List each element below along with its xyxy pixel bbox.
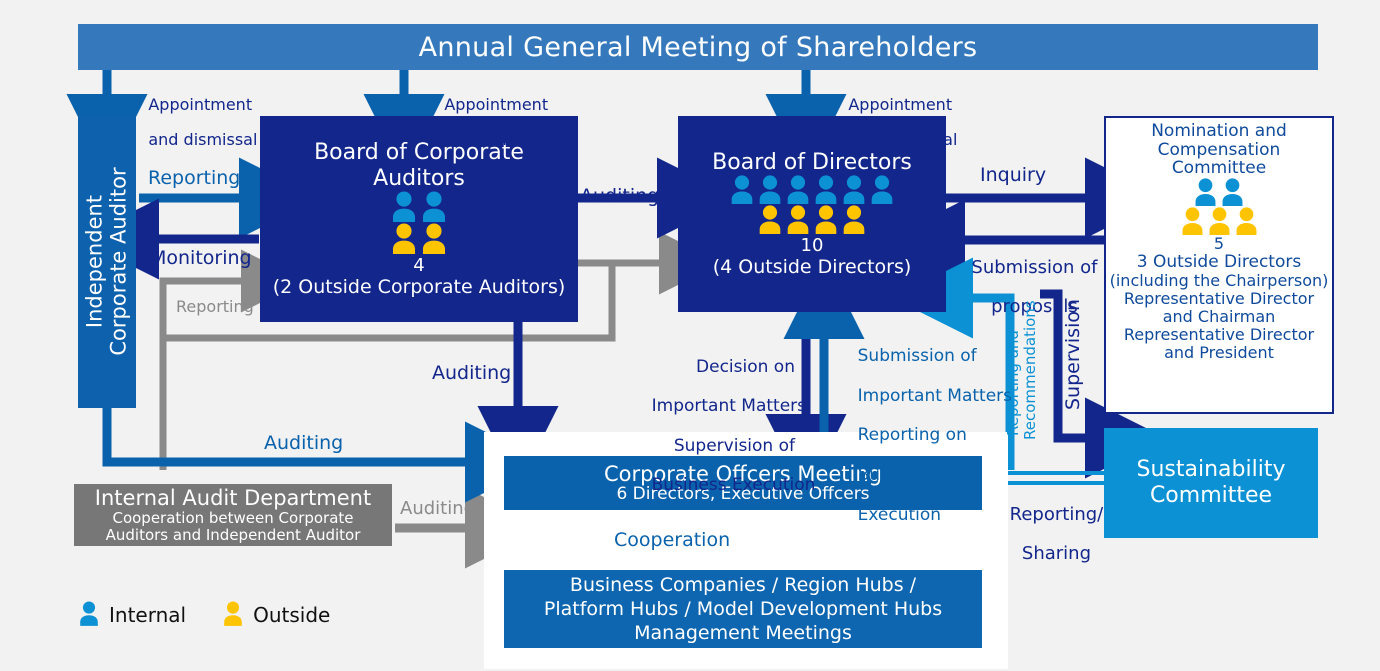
person-icon [1220,178,1245,206]
node-sustainability-committee: Sustainability Committee [1104,428,1318,538]
person-icon [757,205,783,234]
iad-sub: Cooperation between Corporate Auditors a… [106,510,361,543]
person-icon [390,223,418,254]
label-reporting-and-recommendations-1: Reporting and [1004,330,1022,436]
person-icon [1193,178,1218,206]
label-reporting-sharing: Reporting/ Sharing [986,485,1104,584]
legend-outside-label: Outside [253,603,330,627]
label-cooperation: Cooperation [614,530,730,551]
label-monitoring: Monitoring [150,248,252,269]
person-icon [1234,207,1259,235]
people-row [1193,178,1245,206]
label-reporting-and-recommendations-2: Recommendations [1021,300,1039,440]
people-row [729,175,895,204]
person-icon [390,191,418,222]
person-icon [813,175,839,204]
bod-composition: (4 Outside Directors) [713,256,912,278]
person-icon [1207,207,1232,235]
label-appointment-1: Appointment and dismissal [128,78,257,166]
nomination-detail-2: Representative Director [1124,290,1314,308]
people-row [390,223,448,254]
nomination-detail-5: and President [1164,344,1274,362]
legend-internal-label: Internal [109,603,186,627]
agm-title: Annual General Meeting of Shareholders [419,32,978,63]
legend: Internal Outside [78,595,330,635]
legend-outside-icon [222,601,244,630]
label-auditing-bca-to-bod: Auditing [580,186,659,207]
annual-general-meeting-banner: Annual General Meeting of Shareholders [78,24,1318,70]
person-icon [420,191,448,222]
people-row [757,205,867,234]
person-icon [785,175,811,204]
node-nomination-and-compensation-committee: Nomination and Compensation Committee 5 … [1104,116,1334,414]
node-business-companies: Business Companies / Region Hubs / Platf… [504,570,982,648]
bca-composition: (2 Outside Corporate Auditors) [273,276,566,298]
person-icon [813,205,839,234]
nomination-title: Nomination and Compensation Committee [1109,122,1329,178]
nomination-detail-4: Representative Director [1124,326,1314,344]
label-inquiry: Inquiry [980,165,1046,186]
person-icon [420,223,448,254]
node-internal-audit-department: Internal Audit Department Cooperation be… [74,484,392,546]
label-appointment-2: Appointment and dismissal [424,78,553,166]
iad-title: Internal Audit Department [95,487,371,509]
label-decision-supervision: Decision on Important Matters Supervisio… [630,338,795,515]
nomination-detail-1: (including the Chairperson) [1110,272,1329,290]
person-icon [729,175,755,204]
people-row [1180,207,1259,235]
label-supervision: Supervision [1062,299,1084,410]
person-icon [78,601,100,626]
governance-diagram: Annual General Meeting of Shareholders I… [0,0,1380,671]
person-icon [869,175,895,204]
nomination-detail-3: and Chairman [1163,308,1276,326]
label-auditing-ica-to-ops: Auditing [264,433,343,454]
nomination-count: 5 [1214,234,1224,253]
label-appointment-3: Appointment and dismissal [828,78,957,166]
person-icon [841,175,867,204]
person-icon [841,205,867,234]
label-reporting-to-bca: Reporting [148,168,240,189]
bca-people-icons [390,191,448,254]
person-icon [222,601,244,626]
label-auditing-iad-grey: Auditing [400,499,475,519]
bus-line1: Business Companies / Region Hubs / [570,573,916,597]
nomination-people-icons [1180,178,1259,235]
label-auditing-bca-down: Auditing [432,363,511,384]
independent-auditor-label: Independent Corporate Auditor [83,168,130,356]
bod-people-icons [729,175,895,234]
bus-line3: Management Meetings [634,621,852,645]
person-icon [757,175,783,204]
bod-count: 10 [801,235,824,256]
person-icon [1180,207,1205,235]
label-reporting-grey: Reporting [176,298,254,316]
nomination-detail-0: 3 Outside Directors [1137,253,1301,272]
bus-line2: Platform Hubs / Model Development Hubs [544,597,942,621]
sustainability-line2: Committee [1150,483,1272,509]
people-row [390,191,448,222]
person-icon [785,205,811,234]
sustainability-line1: Sustainability [1137,457,1286,483]
bca-count: 4 [413,255,424,276]
legend-internal-icon [78,601,100,630]
